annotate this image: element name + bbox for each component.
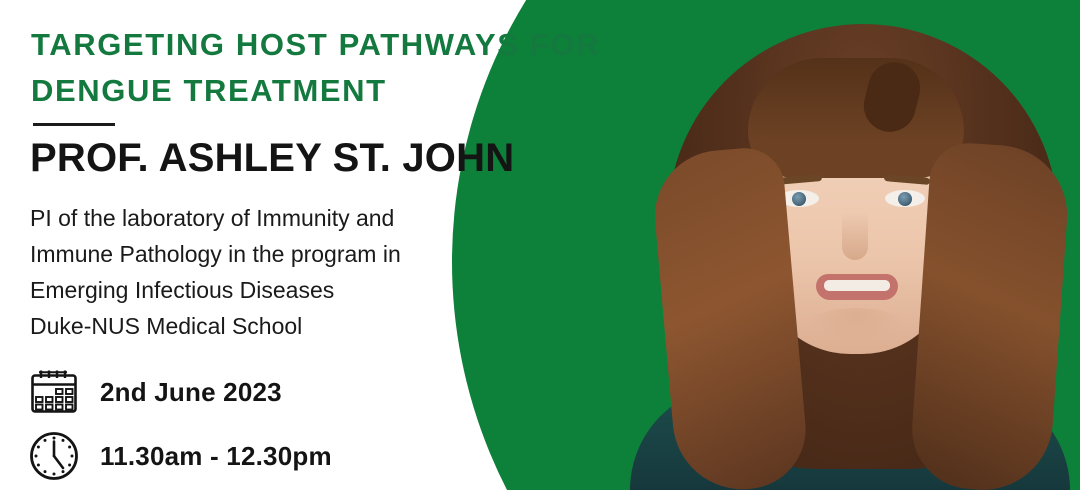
clock-icon bbox=[28, 430, 80, 482]
seminar-announcement-banner: TARGETING HOST PATHWAYS FOR DENGUE TREAT… bbox=[0, 0, 1080, 490]
calendar-icon bbox=[28, 366, 80, 418]
portrait-nose bbox=[842, 212, 868, 260]
date-row: 2nd June 2023 bbox=[28, 366, 282, 418]
event-time-text: 11.30am - 12.30pm bbox=[100, 441, 332, 471]
seminar-title: TARGETING HOST PATHWAYS FOR DENGUE TREAT… bbox=[31, 22, 651, 114]
time-row: 11.30am - 12.30pm bbox=[28, 430, 332, 482]
speaker-portrait-photo bbox=[620, 0, 1080, 490]
portrait-teeth bbox=[824, 280, 890, 291]
event-date-text: 2nd June 2023 bbox=[100, 377, 282, 407]
text-content-column: TARGETING HOST PATHWAYS FOR DENGUE TREAT… bbox=[0, 0, 640, 490]
portrait-fringe bbox=[748, 58, 964, 178]
title-divider-rule bbox=[33, 123, 115, 126]
portrait-chin bbox=[806, 308, 906, 342]
speaker-name: PROF. ASHLEY ST. JOHN bbox=[30, 135, 514, 181]
portrait-iris-right bbox=[898, 192, 912, 206]
speaker-affiliation: PI of the laboratory of Immunity and Imm… bbox=[30, 200, 570, 344]
portrait-hair-strand-right bbox=[908, 141, 1072, 490]
portrait-iris-left bbox=[792, 192, 806, 206]
